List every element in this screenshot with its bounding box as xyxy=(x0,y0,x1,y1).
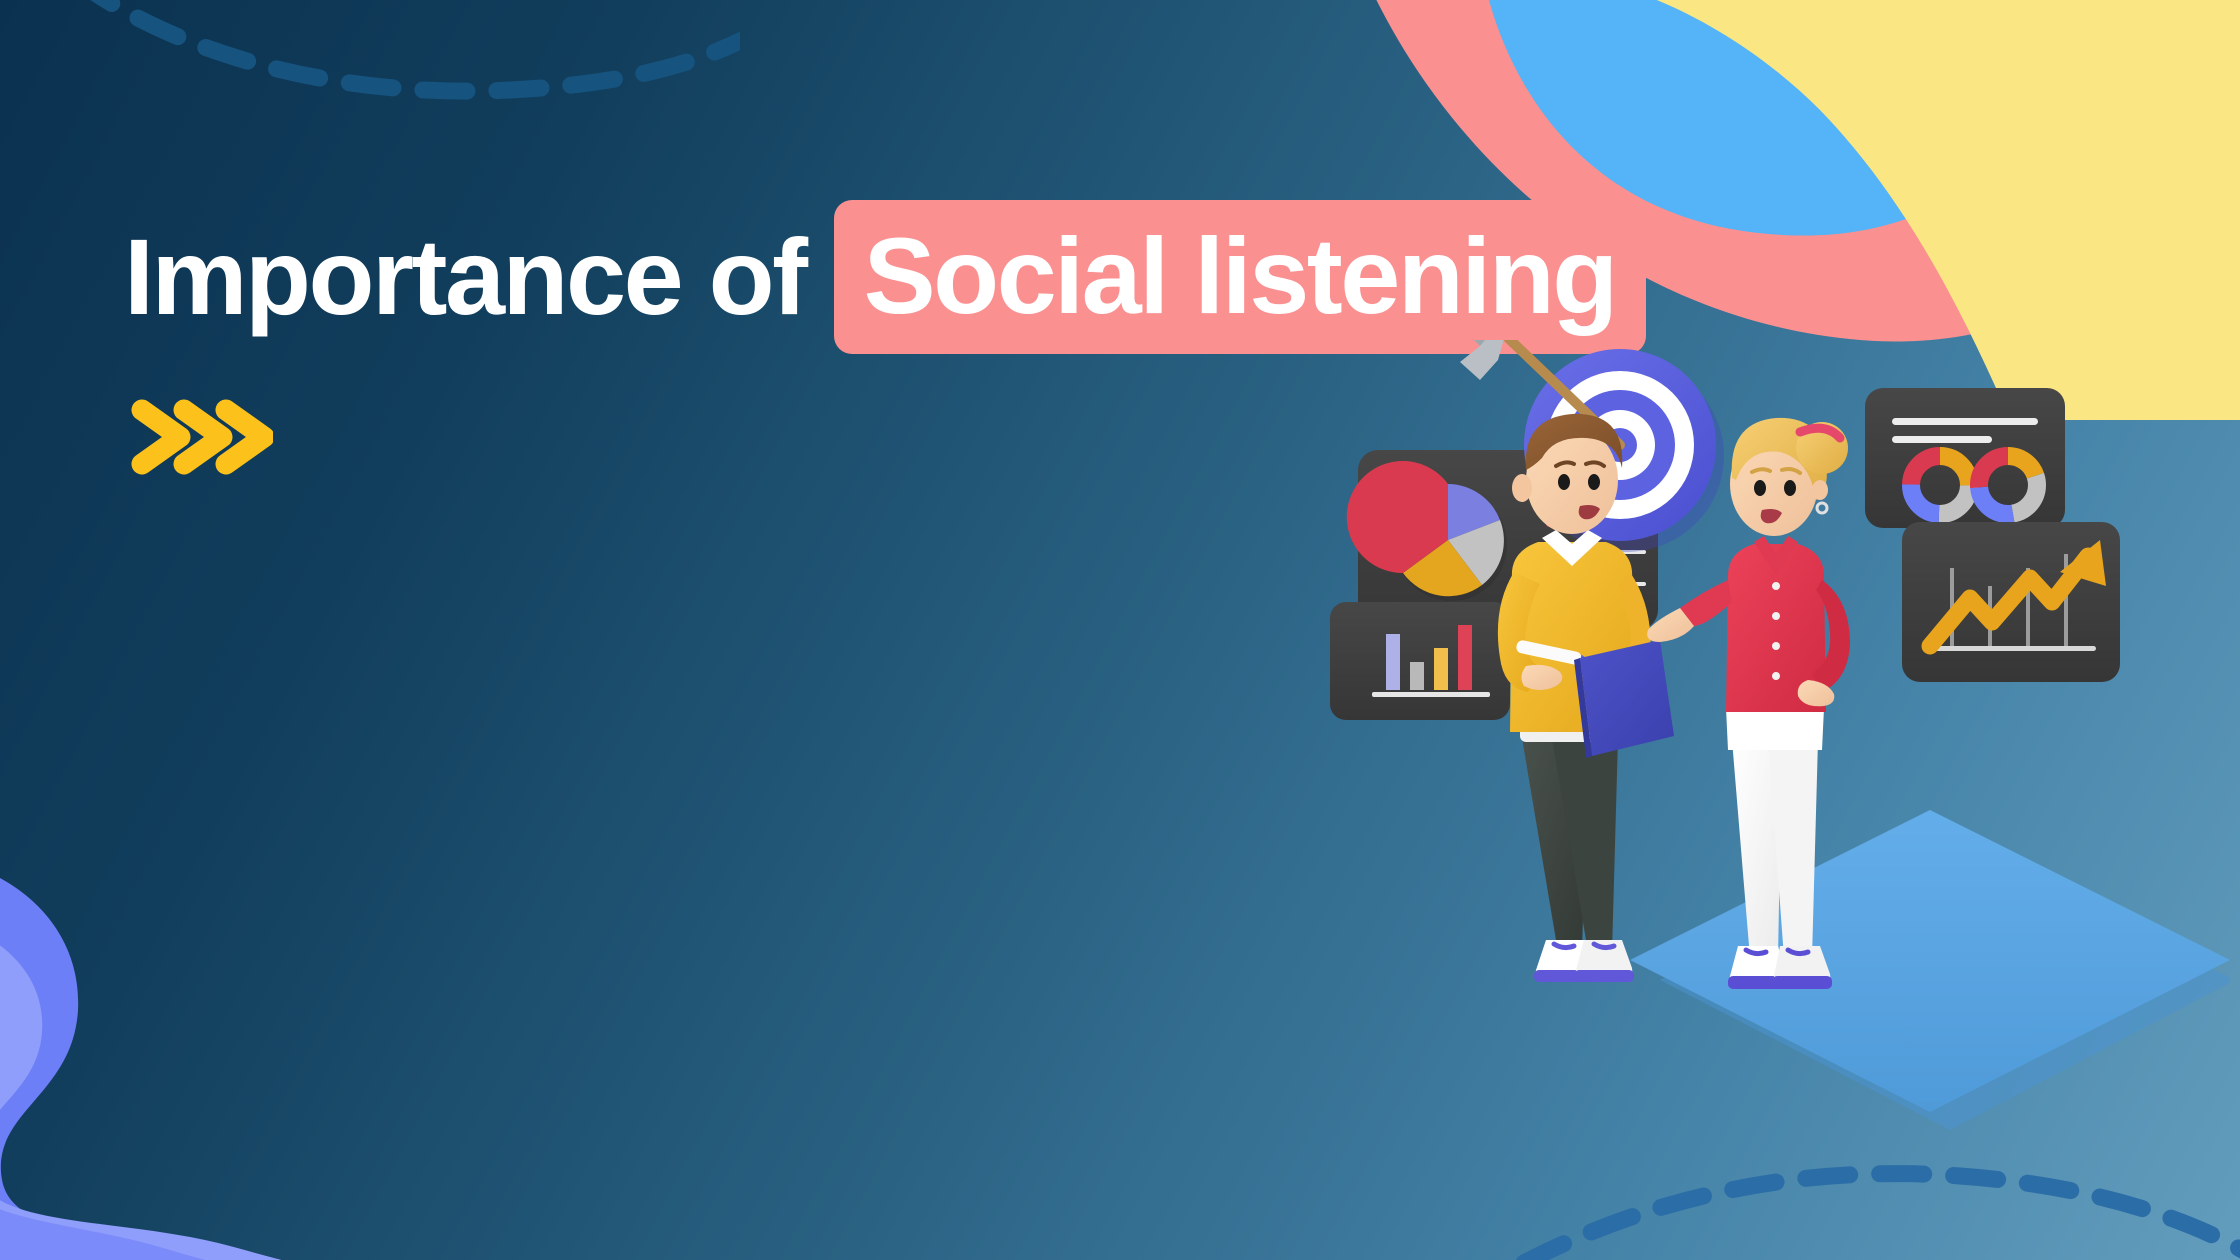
banner-canvas: Importance of Social listening xyxy=(0,0,2240,1260)
social-listening-illustration xyxy=(1330,340,2230,1140)
headline-row: Importance of Social listening xyxy=(124,200,1646,354)
page-title-highlight: Social listening xyxy=(834,200,1646,354)
clipboard-icon xyxy=(1574,640,1674,758)
donut-chart-panel xyxy=(1865,388,2065,528)
chevron-right-triple-icon xyxy=(128,394,273,479)
blob-periwinkle-shape xyxy=(0,760,520,1260)
bar-chart-panel xyxy=(1330,602,1510,720)
platform xyxy=(1630,810,2230,1130)
page-title: Importance of xyxy=(124,223,834,331)
female-shoes xyxy=(1728,946,1832,989)
male-shoes xyxy=(1534,940,1634,982)
dashed-curve-top-left-icon xyxy=(0,0,740,160)
growth-chart-panel xyxy=(1902,522,2120,682)
